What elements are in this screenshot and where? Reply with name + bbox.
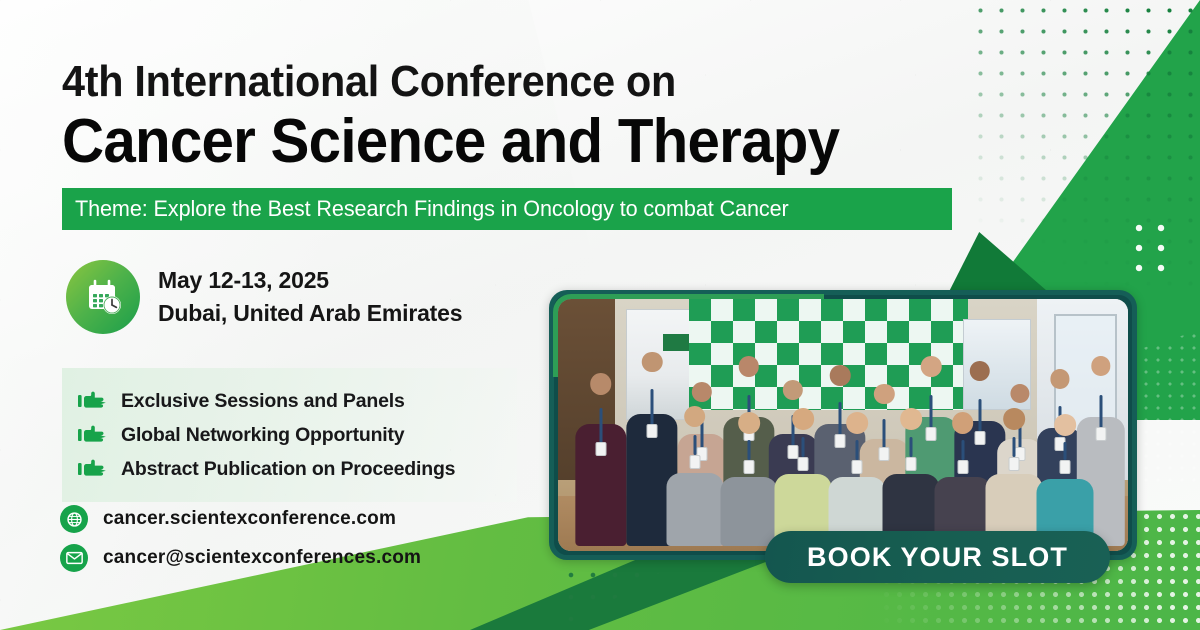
highlights-panel: Exclusive Sessions and Panels Global Net… bbox=[62, 368, 517, 502]
attendee bbox=[775, 402, 832, 546]
pointing-hand-icon bbox=[78, 458, 108, 480]
envelope-icon bbox=[60, 544, 88, 572]
theme-bar: Theme: Explore the Best Research Finding… bbox=[62, 188, 952, 230]
globe-icon bbox=[60, 505, 88, 533]
event-location: Dubai, United Arab Emirates bbox=[158, 300, 462, 327]
list-item-label: Exclusive Sessions and Panels bbox=[121, 390, 405, 413]
event-date: May 12-13, 2025 bbox=[158, 267, 462, 294]
contact-block: cancer.scientexconference.com cancer@sci… bbox=[60, 505, 421, 572]
group-photo-card bbox=[549, 290, 1137, 560]
conference-edition-title: 4th International Conference on bbox=[62, 58, 908, 106]
list-item: Exclusive Sessions and Panels bbox=[78, 384, 517, 418]
headline-block: 4th International Conference on Cancer S… bbox=[62, 58, 962, 230]
website-label: cancer.scientexconference.com bbox=[103, 508, 396, 530]
email-row[interactable]: cancer@scientexconferences.com bbox=[60, 544, 421, 572]
attendee bbox=[1037, 407, 1094, 546]
email-label: cancer@scientexconferences.com bbox=[103, 547, 421, 569]
conference-banner: 4th International Conference on Cancer S… bbox=[0, 0, 1200, 630]
event-date-venue: May 12-13, 2025 Dubai, United Arab Emira… bbox=[66, 260, 462, 334]
list-item: Abstract Publication on Proceedings bbox=[78, 452, 517, 486]
attendee bbox=[575, 349, 626, 546]
pointing-hand-icon bbox=[78, 390, 108, 412]
group-photo bbox=[558, 299, 1128, 551]
calendar-clock-icon bbox=[66, 260, 140, 334]
attendee bbox=[829, 405, 886, 546]
pointing-hand-icon bbox=[78, 424, 108, 446]
book-your-slot-label: BOOK YOUR SLOT bbox=[807, 542, 1068, 573]
book-your-slot-button[interactable]: BOOK YOUR SLOT bbox=[765, 531, 1110, 583]
photo-attendees bbox=[558, 299, 1128, 551]
theme-text: Theme: Explore the Best Research Finding… bbox=[75, 196, 789, 222]
attendee bbox=[666, 400, 723, 546]
list-item-label: Abstract Publication on Proceedings bbox=[121, 458, 455, 481]
attendee bbox=[883, 402, 940, 546]
attendee bbox=[934, 405, 991, 546]
top-right-dot-grid bbox=[1128, 218, 1170, 276]
conference-name-title: Cancer Science and Therapy bbox=[62, 108, 908, 176]
list-item-label: Global Networking Opportunity bbox=[121, 424, 404, 447]
list-item: Global Networking Opportunity bbox=[78, 418, 517, 452]
attendee bbox=[986, 402, 1043, 546]
website-row[interactable]: cancer.scientexconference.com bbox=[60, 505, 421, 533]
attendee bbox=[720, 405, 777, 546]
